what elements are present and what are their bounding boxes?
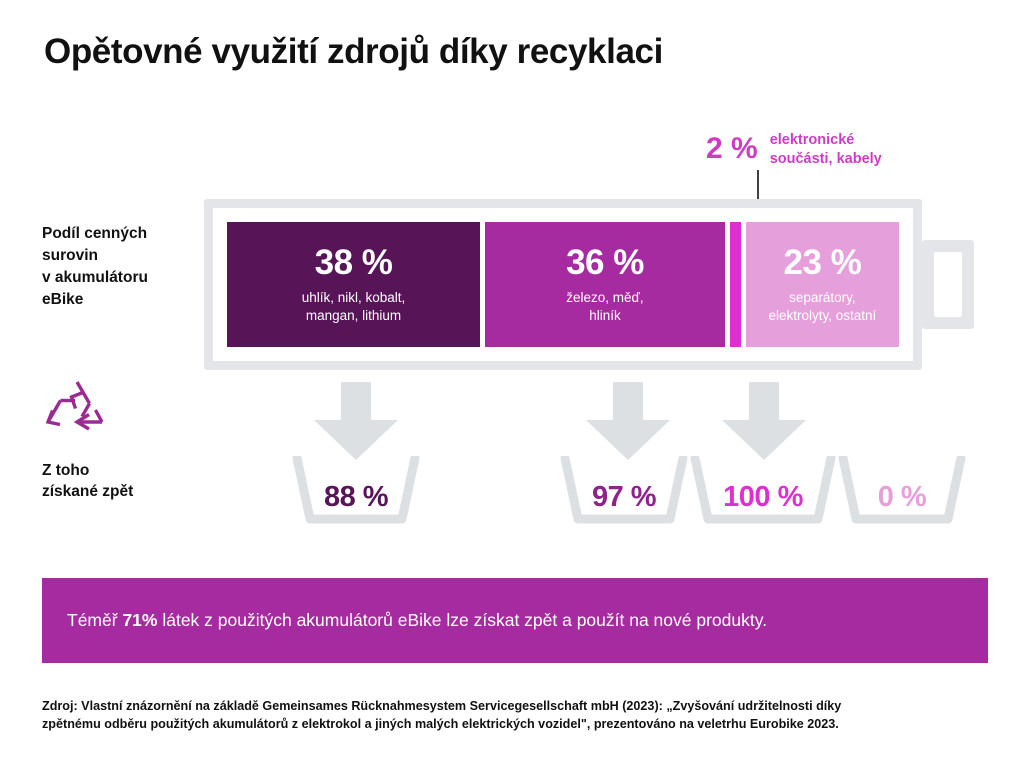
recovery-bin-1: 88 %	[292, 456, 420, 524]
segment-1-desc: uhlík, nikl, kobalt, mangan, lithium	[302, 289, 406, 324]
recovery-bin-4: 0 %	[838, 456, 966, 524]
recovery-bin-2-percent: 97 %	[560, 483, 688, 512]
segment-2-desc: železo, měď, hliník	[566, 289, 643, 324]
segment-4-percent: 23 %	[784, 245, 862, 280]
segment-4-desc: separátory, elektrolyty, ostatní	[769, 289, 877, 324]
battery-graphic: 38 % uhlík, nikl, kobalt, mangan, lithiu…	[204, 199, 922, 370]
battery-terminal-icon	[922, 240, 974, 329]
page-title: Opětovné využití zdrojů díky recyklaci	[44, 32, 663, 72]
banner-prefix: Téměř	[67, 610, 122, 630]
recycle-icon	[42, 378, 112, 440]
banner-highlight: 71%	[122, 610, 157, 630]
battery-body: 38 % uhlík, nikl, kobalt, mangan, lithiu…	[204, 199, 922, 370]
battery-segment-2: 36 % železo, měď, hliník	[485, 222, 725, 347]
source-note: Zdroj: Vlastní znázornění na základě Gem…	[42, 697, 992, 734]
battery-segment-4: 23 % separátory, elektrolyty, ostatní	[746, 222, 899, 347]
arrow-down-icon-1	[308, 382, 404, 460]
recovery-bin-3: 100 %	[690, 456, 836, 524]
recovery-bin-3-percent: 100 %	[690, 483, 836, 512]
composition-label: Podíl cenných surovin v akumulátoru eBik…	[42, 223, 212, 311]
arrow-down-icon-3	[716, 382, 812, 460]
recovered-label: Z toho získané zpět	[42, 460, 212, 503]
recovery-flow: 88 % 97 % 100 % 0 %	[204, 382, 974, 527]
battery-segment-1: 38 % uhlík, nikl, kobalt, mangan, lithiu…	[227, 222, 480, 347]
banner-suffix: látek z použitých akumulátorů eBike lze …	[157, 610, 767, 630]
recovery-bin-1-percent: 88 %	[292, 483, 420, 512]
infographic-page: Opětovné využití zdrojů díky recyklaci 2…	[0, 0, 1030, 781]
recovery-bin-2: 97 %	[560, 456, 688, 524]
battery-segment-3	[730, 222, 741, 347]
summary-banner: Téměř 71% látek z použitých akumulátorů …	[42, 578, 988, 663]
battery-inner: 38 % uhlík, nikl, kobalt, mangan, lithiu…	[213, 208, 913, 361]
arrow-down-icon-2	[580, 382, 676, 460]
callout-electronics: 2 % elektronické součásti, kabely	[706, 131, 882, 168]
segment-2-percent: 36 %	[566, 245, 644, 280]
summary-banner-text: Téměř 71% látek z použitých akumulátorů …	[42, 610, 767, 631]
recovery-bin-4-percent: 0 %	[838, 483, 966, 512]
callout-label: elektronické součásti, kabely	[770, 131, 882, 168]
callout-value: 2 %	[706, 131, 758, 164]
segment-1-percent: 38 %	[315, 245, 393, 280]
